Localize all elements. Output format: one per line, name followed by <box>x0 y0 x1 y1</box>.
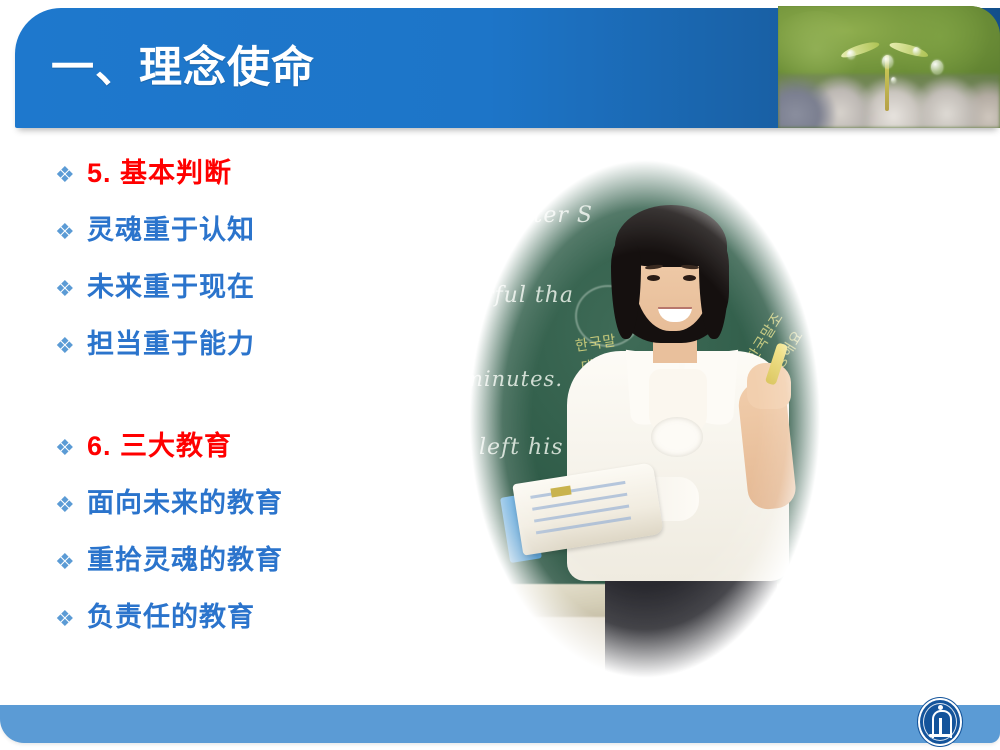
chalk-text-line: chter S <box>505 203 593 228</box>
pebbles <box>778 74 1000 128</box>
university-seal-logo[interactable] <box>918 698 962 746</box>
list-item[interactable]: ❖ 面向未来的教育 <box>55 490 455 547</box>
list-item-label: 负责任的教育 <box>87 604 255 631</box>
footer-bar <box>0 705 1000 743</box>
list-item[interactable]: ❖ 未来重于现在 <box>55 274 455 331</box>
dew-drop <box>847 50 855 59</box>
diamond-bullet-icon: ❖ <box>55 608 87 630</box>
list-item-label: 5. 基本判断 <box>87 160 232 187</box>
diamond-bullet-icon: ❖ <box>55 335 87 357</box>
sprout-with-dew-photo <box>778 6 1000 128</box>
list-item[interactable]: ❖ 负责任的教育 <box>55 604 455 661</box>
list-item-label: 灵魂重于认知 <box>87 217 255 244</box>
chalk-text-line: erful tha <box>469 283 574 308</box>
blouse-bow <box>651 417 703 457</box>
logo-base-icon <box>929 734 951 737</box>
diamond-bullet-icon: ❖ <box>55 551 87 573</box>
diamond-bullet-icon: ❖ <box>55 221 87 243</box>
list-item[interactable]: ❖ 6. 三大教育 <box>55 433 455 490</box>
list-item[interactable]: ❖ 重拾灵魂的教育 <box>55 547 455 604</box>
list-item-label: 担当重于能力 <box>87 331 255 358</box>
photo-oval-mask: chter S erful tha minutes. left his re 한… <box>455 155 835 705</box>
dew-drop <box>931 60 943 74</box>
teacher-skirt <box>605 570 777 705</box>
bullet-list: ❖ 5. 基本判断 ❖ 灵魂重于认知 ❖ 未来重于现在 ❖ 担当重于能力 ❖ 6… <box>55 160 455 661</box>
list-item[interactable]: ❖ 灵魂重于认知 <box>55 217 455 274</box>
diamond-bullet-icon: ❖ <box>55 494 87 516</box>
diamond-bullet-icon: ❖ <box>55 164 87 186</box>
dew-drop <box>891 77 896 83</box>
list-item-label: 面向未来的教育 <box>87 490 283 517</box>
list-item[interactable]: ❖ 担当重于能力 <box>55 331 455 388</box>
list-item-label: 重拾灵魂的教育 <box>87 547 283 574</box>
teacher-at-chalkboard-photo: chter S erful tha minutes. left his re 한… <box>455 155 835 705</box>
teacher-eye-right <box>683 275 696 281</box>
diamond-bullet-icon: ❖ <box>55 437 87 459</box>
diamond-bullet-icon: ❖ <box>55 278 87 300</box>
page-title: 一、理念使命 <box>51 40 315 96</box>
list-gap <box>55 388 455 433</box>
list-item-label: 未来重于现在 <box>87 274 255 301</box>
list-item-label: 6. 三大教育 <box>87 433 232 460</box>
slide-canvas: 一、理念使命 ❖ 5. 基本判断 ❖ 灵魂重于认知 ❖ 未来重于现在 ❖ <box>0 0 1000 750</box>
list-item[interactable]: ❖ 5. 基本判断 <box>55 160 455 217</box>
chalk-text-line: minutes. <box>463 367 563 391</box>
chalk-text-line: left his <box>479 435 564 460</box>
teacher-eye-left <box>647 275 660 281</box>
